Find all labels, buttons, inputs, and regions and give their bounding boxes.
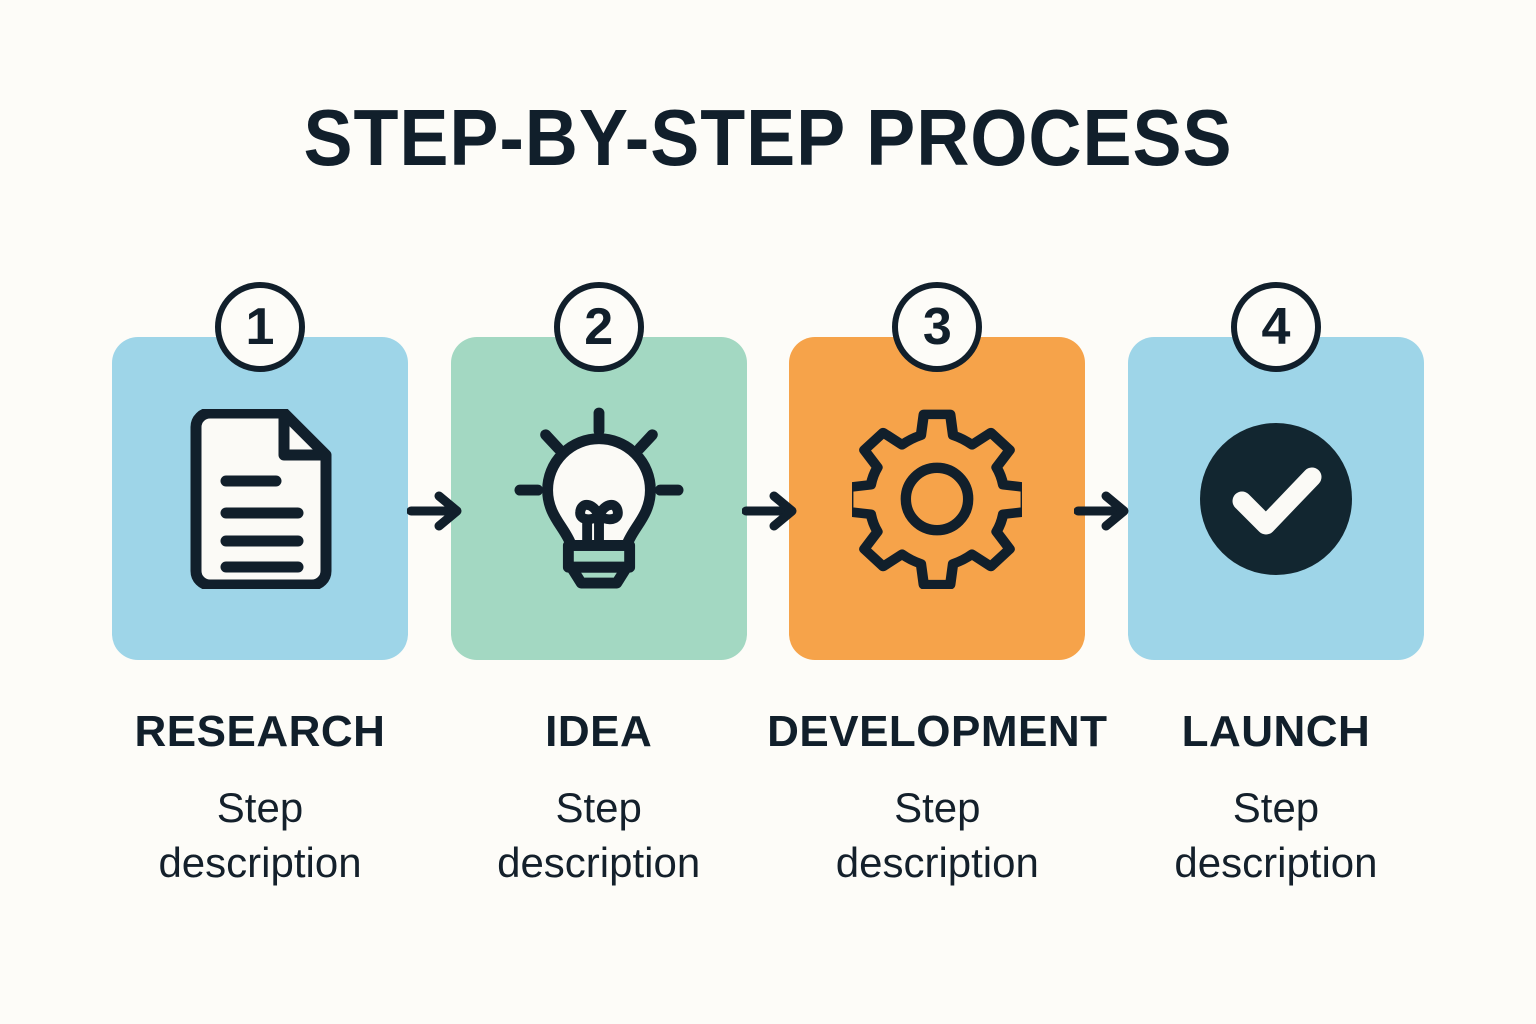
step-number-badge: 1 <box>215 282 305 372</box>
step-title: LAUNCH <box>1182 710 1371 754</box>
step-card[interactable]: 2 <box>451 337 747 660</box>
step-card[interactable]: 4 <box>1128 337 1424 660</box>
step-card[interactable]: 3 <box>789 337 1085 660</box>
check-circle-icon <box>1191 404 1361 594</box>
step-description: Step description <box>479 780 719 891</box>
step-number-label: 2 <box>584 301 613 353</box>
gear-icon <box>852 404 1022 594</box>
process-step-launch[interactable]: 4 LAUNCH Step description <box>1126 337 1426 891</box>
arrow-right-icon <box>740 480 802 542</box>
process-infographic: STEP-BY-STEP PROCESS 1 <box>0 0 1536 1024</box>
process-step-research[interactable]: 1 RESEARCH Step description <box>110 337 410 891</box>
page-title: STEP-BY-STEP PROCESS <box>61 98 1474 178</box>
arrow-right-icon <box>1072 480 1134 542</box>
step-description: Step description <box>140 780 380 891</box>
step-description: Step description <box>817 780 1057 891</box>
process-steps-row: 1 RESEARCH Step description <box>110 337 1426 897</box>
step-number-badge: 2 <box>554 282 644 372</box>
arrow-right-icon <box>405 480 467 542</box>
process-step-idea[interactable]: 2 <box>449 337 749 891</box>
step-card[interactable]: 1 <box>112 337 408 660</box>
step-number-label: 3 <box>923 301 952 353</box>
step-number-label: 4 <box>1262 301 1291 353</box>
step-title: RESEARCH <box>135 710 386 754</box>
step-title: DEVELOPMENT <box>767 710 1107 754</box>
step-number-badge: 4 <box>1231 282 1321 372</box>
lightbulb-icon <box>514 404 684 594</box>
step-number-badge: 3 <box>892 282 982 372</box>
step-title: IDEA <box>545 710 652 754</box>
document-icon <box>175 404 345 594</box>
process-step-development[interactable]: 3 DEVELOPMENT Step description <box>787 337 1087 891</box>
step-number-label: 1 <box>246 301 275 353</box>
step-description: Step description <box>1156 780 1396 891</box>
